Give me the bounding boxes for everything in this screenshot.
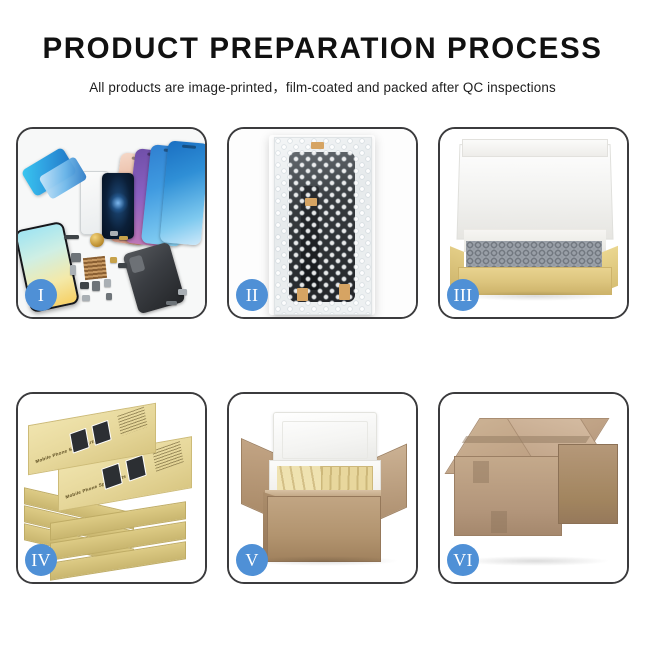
inner-box-lid-flap <box>462 139 608 157</box>
phone-notch-icon <box>181 145 195 149</box>
bubble-texture <box>275 138 371 314</box>
part-chip <box>70 265 76 275</box>
part-chip <box>110 257 117 263</box>
step-badge-5: V <box>236 544 268 576</box>
part-chip <box>80 282 89 289</box>
drop-shadow <box>249 556 399 566</box>
bubble-wrap-bag <box>274 137 372 315</box>
carton-front-face <box>454 456 562 536</box>
tape-piece <box>297 288 308 301</box>
box-label-lines <box>152 441 183 472</box>
step-panel-1: I <box>16 127 207 319</box>
drop-shadow <box>460 556 610 566</box>
process-steps-grid: I II <box>16 127 629 584</box>
step-badge-2: II <box>236 279 268 311</box>
speaker-module-round <box>90 233 104 247</box>
step-4-image: Mobile Phone Spare Parts Mobile Phone Sp… <box>18 394 205 582</box>
page-title: PRODUCT PREPARATION PROCESS <box>0 34 645 65</box>
phone-fan-lightblue <box>160 140 205 245</box>
screw-tray-grid <box>83 256 107 280</box>
tape-piece <box>311 142 324 149</box>
part-chip <box>166 301 177 305</box>
part-chip <box>64 235 79 239</box>
part-chip <box>92 281 100 291</box>
step-1-image: I <box>18 129 205 317</box>
part-chip <box>110 231 118 236</box>
part-chip <box>106 293 112 300</box>
drop-shadow <box>460 291 610 301</box>
inner-box-lid <box>456 144 613 240</box>
carton-tab <box>473 461 489 483</box>
box-label-thumbnail <box>91 420 111 446</box>
step-badge-3: III <box>447 279 479 311</box>
step-2-image: II <box>229 129 416 317</box>
box-label-thumbnail <box>125 454 147 481</box>
part-chip <box>71 253 81 262</box>
part-chip <box>104 279 111 287</box>
phone-dark-display <box>102 173 134 239</box>
step-badge-1: I <box>25 279 57 311</box>
box-label-lines <box>117 407 147 436</box>
box-label-thumbnail <box>101 463 123 490</box>
tape-piece <box>339 284 350 300</box>
part-chip <box>119 236 128 240</box>
box-label-thumbnail <box>69 428 89 454</box>
step-5-image: V <box>229 394 416 582</box>
carton-tab <box>491 511 507 533</box>
step-badge-4: IV <box>25 544 57 576</box>
carton-side-face <box>558 444 618 524</box>
step-panel-3: III <box>438 127 629 319</box>
step-badge-6: VI <box>447 544 479 576</box>
part-chip <box>178 289 187 295</box>
part-chip <box>118 263 127 268</box>
step-panel-6: VI <box>438 392 629 584</box>
step-panel-2: II <box>227 127 418 319</box>
step-panel-5: V <box>227 392 418 584</box>
carton-tape-seam <box>462 436 590 443</box>
tape-piece <box>305 198 317 206</box>
carton-body-front <box>267 496 381 562</box>
step-panel-4: Mobile Phone Spare Parts Mobile Phone Sp… <box>16 392 207 584</box>
part-chip <box>82 295 90 301</box>
page-header: PRODUCT PREPARATION PROCESS All products… <box>0 0 645 96</box>
page-subtitle: All products are image-printed，film-coat… <box>0 76 645 96</box>
step-6-image: VI <box>440 394 627 582</box>
step-3-image: III <box>440 129 627 317</box>
